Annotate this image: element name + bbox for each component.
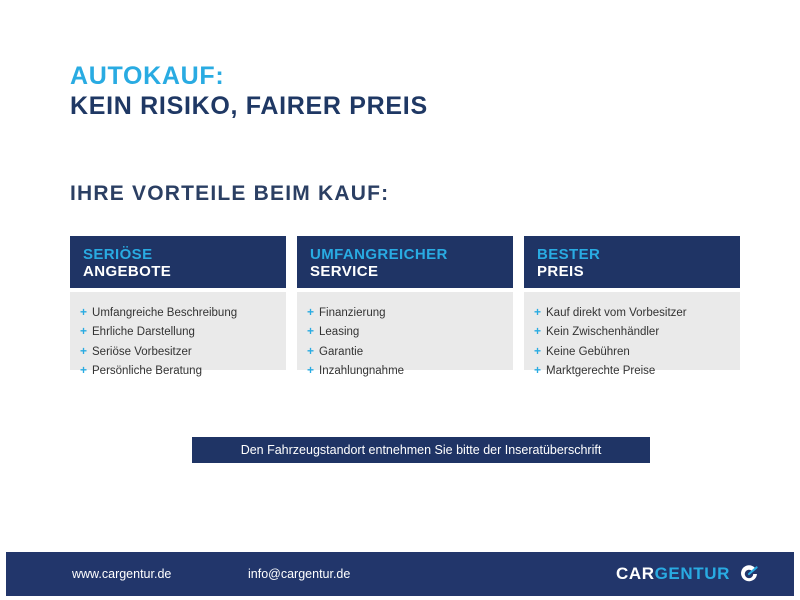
list-item: + Kein Zwischenhändler	[534, 322, 730, 341]
list-item-label: Kein Zwischenhändler	[546, 324, 659, 341]
headline-line-1: AUTOKAUF:	[70, 62, 428, 92]
plus-icon: +	[307, 322, 314, 340]
column-body: + Umfangreiche Beschreibung + Ehrliche D…	[70, 292, 286, 370]
plus-icon: +	[307, 361, 314, 379]
benefit-column-angebote: SERIÖSE ANGEBOTE + Umfangreiche Beschrei…	[70, 236, 286, 370]
column-body: + Finanzierung + Leasing + Garantie + In…	[297, 292, 513, 370]
headline-line-2: KEIN RISIKO, FAIRER PREIS	[70, 92, 428, 122]
column-header-line-1: UMFANGREICHER	[310, 247, 500, 263]
benefit-column-preis: BESTER PREIS + Kauf direkt vom Vorbesitz…	[524, 236, 740, 370]
list-item: + Ehrliche Darstellung	[80, 322, 276, 341]
benefit-column-service: UMFANGREICHER SERVICE + Finanzierung + L…	[297, 236, 513, 370]
section-subtitle: IHRE VORTEILE BEIM KAUF:	[70, 182, 389, 206]
footer-website-link[interactable]: www.cargentur.de	[72, 567, 171, 581]
slide-root: AUTOKAUF: KEIN RISIKO, FAIRER PREIS IHRE…	[0, 0, 800, 600]
list-item-label: Garantie	[319, 344, 363, 361]
list-item-label: Ehrliche Darstellung	[92, 324, 195, 341]
footer-email-link[interactable]: info@cargentur.de	[248, 567, 350, 581]
cargentur-c-speedometer-icon	[738, 563, 760, 585]
list-item-label: Inzahlungnahme	[319, 363, 404, 380]
list-item-label: Marktgerechte Preise	[546, 363, 655, 380]
plus-icon: +	[80, 361, 87, 379]
list-item: + Seriöse Vorbesitzer	[80, 342, 276, 361]
plus-icon: +	[534, 342, 541, 360]
list-item-label: Persönliche Beratung	[92, 363, 202, 380]
location-notice-banner: Den Fahrzeugstandort entnehmen Sie bitte…	[192, 437, 650, 463]
plus-icon: +	[534, 361, 541, 379]
list-item-label: Leasing	[319, 324, 359, 341]
footer-bar: www.cargentur.de info@cargentur.de CAR G…	[6, 552, 794, 596]
list-item-label: Kauf direkt vom Vorbesitzer	[546, 305, 687, 322]
list-item-label: Keine Gebühren	[546, 344, 630, 361]
column-header: SERIÖSE ANGEBOTE	[70, 236, 286, 288]
page-title: AUTOKAUF: KEIN RISIKO, FAIRER PREIS	[70, 62, 428, 121]
column-header-line-1: BESTER	[537, 247, 727, 263]
list-item: + Marktgerechte Preise	[534, 361, 730, 380]
column-header: BESTER PREIS	[524, 236, 740, 288]
plus-icon: +	[80, 342, 87, 360]
plus-icon: +	[80, 322, 87, 340]
logo-text-gentur: GENTUR	[655, 564, 730, 584]
list-item-label: Umfangreiche Beschreibung	[92, 305, 237, 322]
benefits-columns: SERIÖSE ANGEBOTE + Umfangreiche Beschrei…	[70, 236, 740, 370]
logo-text-car: CAR	[616, 564, 655, 584]
column-header-line-1: SERIÖSE	[83, 247, 273, 263]
list-item: + Umfangreiche Beschreibung	[80, 303, 276, 322]
cargentur-logo: CAR GENTUR	[616, 563, 760, 585]
column-header-line-2: SERVICE	[310, 263, 500, 281]
column-header-line-2: PREIS	[537, 263, 727, 281]
list-item: + Kauf direkt vom Vorbesitzer	[534, 303, 730, 322]
column-body: + Kauf direkt vom Vorbesitzer + Kein Zwi…	[524, 292, 740, 370]
list-item: + Finanzierung	[307, 303, 503, 322]
column-header-line-2: ANGEBOTE	[83, 263, 273, 281]
column-header: UMFANGREICHER SERVICE	[297, 236, 513, 288]
list-item-label: Seriöse Vorbesitzer	[92, 344, 192, 361]
list-item-label: Finanzierung	[319, 305, 385, 322]
plus-icon: +	[307, 303, 314, 321]
list-item: + Persönliche Beratung	[80, 361, 276, 380]
list-item: + Garantie	[307, 342, 503, 361]
list-item: + Keine Gebühren	[534, 342, 730, 361]
plus-icon: +	[534, 322, 541, 340]
plus-icon: +	[307, 342, 314, 360]
plus-icon: +	[80, 303, 87, 321]
plus-icon: +	[534, 303, 541, 321]
list-item: + Leasing	[307, 322, 503, 341]
list-item: + Inzahlungnahme	[307, 361, 503, 380]
